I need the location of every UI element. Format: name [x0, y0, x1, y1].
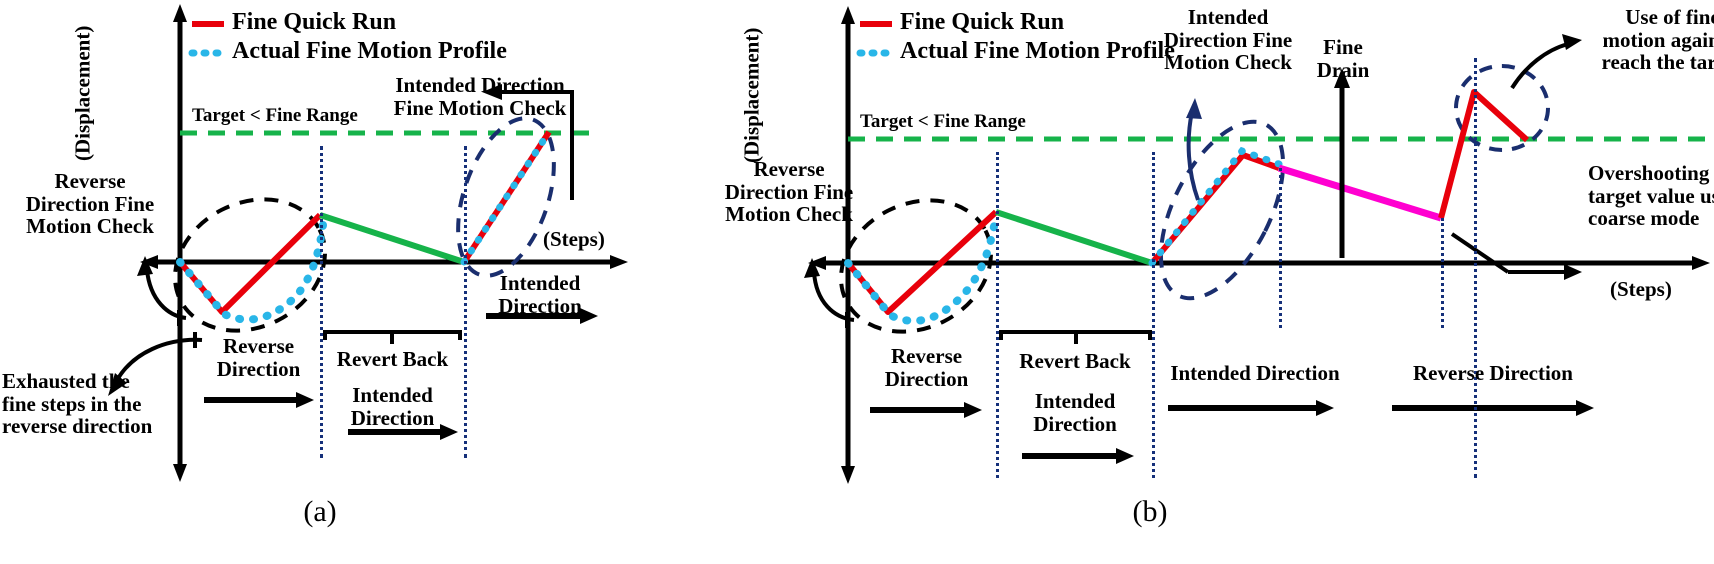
target-line-label-b: Target < Fine Range [860, 112, 1026, 133]
annotation-intended-check-a: Intended Direction Fine Motion Check [380, 74, 580, 119]
revert-back-line [320, 215, 464, 262]
phase-label-revert-back-b: Revert Back [1009, 350, 1141, 373]
target-line-label-a: Target < Fine Range [192, 106, 358, 127]
annotation-reverse-check-b: Reverse Direction Fine Motion Check [704, 158, 874, 226]
revert-back-brace [325, 332, 460, 344]
annotation-fine-motion-again-b: Use of fine motion again to reach the ta… [1580, 6, 1714, 74]
x-axis-label-b: (Steps) [1610, 278, 1672, 301]
annotation-overshoot-b: Overshooting the target value using coar… [1588, 162, 1714, 230]
fine-motion-again-line [1441, 92, 1527, 218]
annotation-reverse-check-a: Reverse Direction Fine Motion Check [10, 170, 170, 238]
divider-b-3 [1279, 168, 1282, 328]
fine-drain-pointer [1334, 68, 1350, 258]
phase-sublabel-revert-back-a: Intended Direction [330, 384, 455, 429]
overshoot-pointer [1452, 234, 1582, 280]
figure-root: (Displacement) (Steps) Fine Quick Run Ac… [0, 0, 1714, 564]
coarse-mode-line [1279, 168, 1441, 218]
annotation-exhausted-a: Exhausted the fine steps in the reverse … [2, 370, 172, 438]
phase-label-intended-direction-b: Intended Direction [1160, 362, 1350, 385]
phase-label-reverse-direction-2-b: Reverse Direction [1398, 362, 1588, 385]
divider-b-2 [1152, 152, 1155, 478]
phase-label-revert-back-a: Revert Back [330, 348, 455, 371]
phase-arrow-intended-direction [1168, 400, 1334, 416]
intended-direction-actual-profile [464, 132, 549, 262]
intended-check-pointer [1189, 112, 1198, 200]
panel-b: (Displacement) (Steps) Fine Quick Run Ac… [790, 0, 1714, 564]
caption-a: (a) [270, 495, 370, 529]
divider-a-2 [464, 146, 467, 458]
intended-check-ellipse [1136, 103, 1309, 318]
fine-motion-again-pointer [1512, 44, 1568, 88]
panel-a: (Displacement) (Steps) Fine Quick Run Ac… [0, 0, 790, 564]
phase-label-intended-direction-a: Intended Direction [480, 272, 600, 317]
divider-b-4 [1441, 218, 1444, 328]
revert-back-brace [1001, 332, 1150, 344]
y-axis-label-a: (Displacement) [72, 3, 95, 183]
divider-a-1 [320, 146, 323, 458]
divider-b-5 [1474, 58, 1477, 478]
phase-sublabel-revert-back-b: Intended Direction [1009, 390, 1141, 435]
legend-label-actual-profile-a: Actual Fine Motion Profile [232, 39, 507, 65]
panel-b-graphics [790, 0, 1714, 564]
phase-arrow-reverse-direction [870, 402, 982, 418]
phase-arrow-reverse-direction [204, 392, 314, 408]
legend-label-fine-quick-run-a: Fine Quick Run [232, 10, 396, 36]
x-axis-label-a: (Steps) [543, 228, 605, 251]
annotation-fine-drain-b: Fine Drain [1302, 36, 1384, 81]
phase-label-reverse-direction-a: Reverse Direction [196, 335, 321, 380]
legend-label-fine-quick-run-b: Fine Quick Run [900, 10, 1064, 36]
revert-back-line [996, 212, 1152, 263]
caption-b: (b) [1100, 495, 1200, 529]
phase-arrow-reverse-direction-2 [1392, 400, 1594, 416]
annotation-intended-check-b: Intended Direction Fine Motion Check [1148, 6, 1308, 74]
phase-arrow-revert-back [1022, 448, 1134, 464]
phase-label-reverse-direction-b: Reverse Direction [864, 345, 989, 390]
x-axis [140, 255, 628, 269]
divider-b-1 [996, 152, 999, 478]
legend-label-actual-profile-b: Actual Fine Motion Profile [900, 39, 1175, 65]
